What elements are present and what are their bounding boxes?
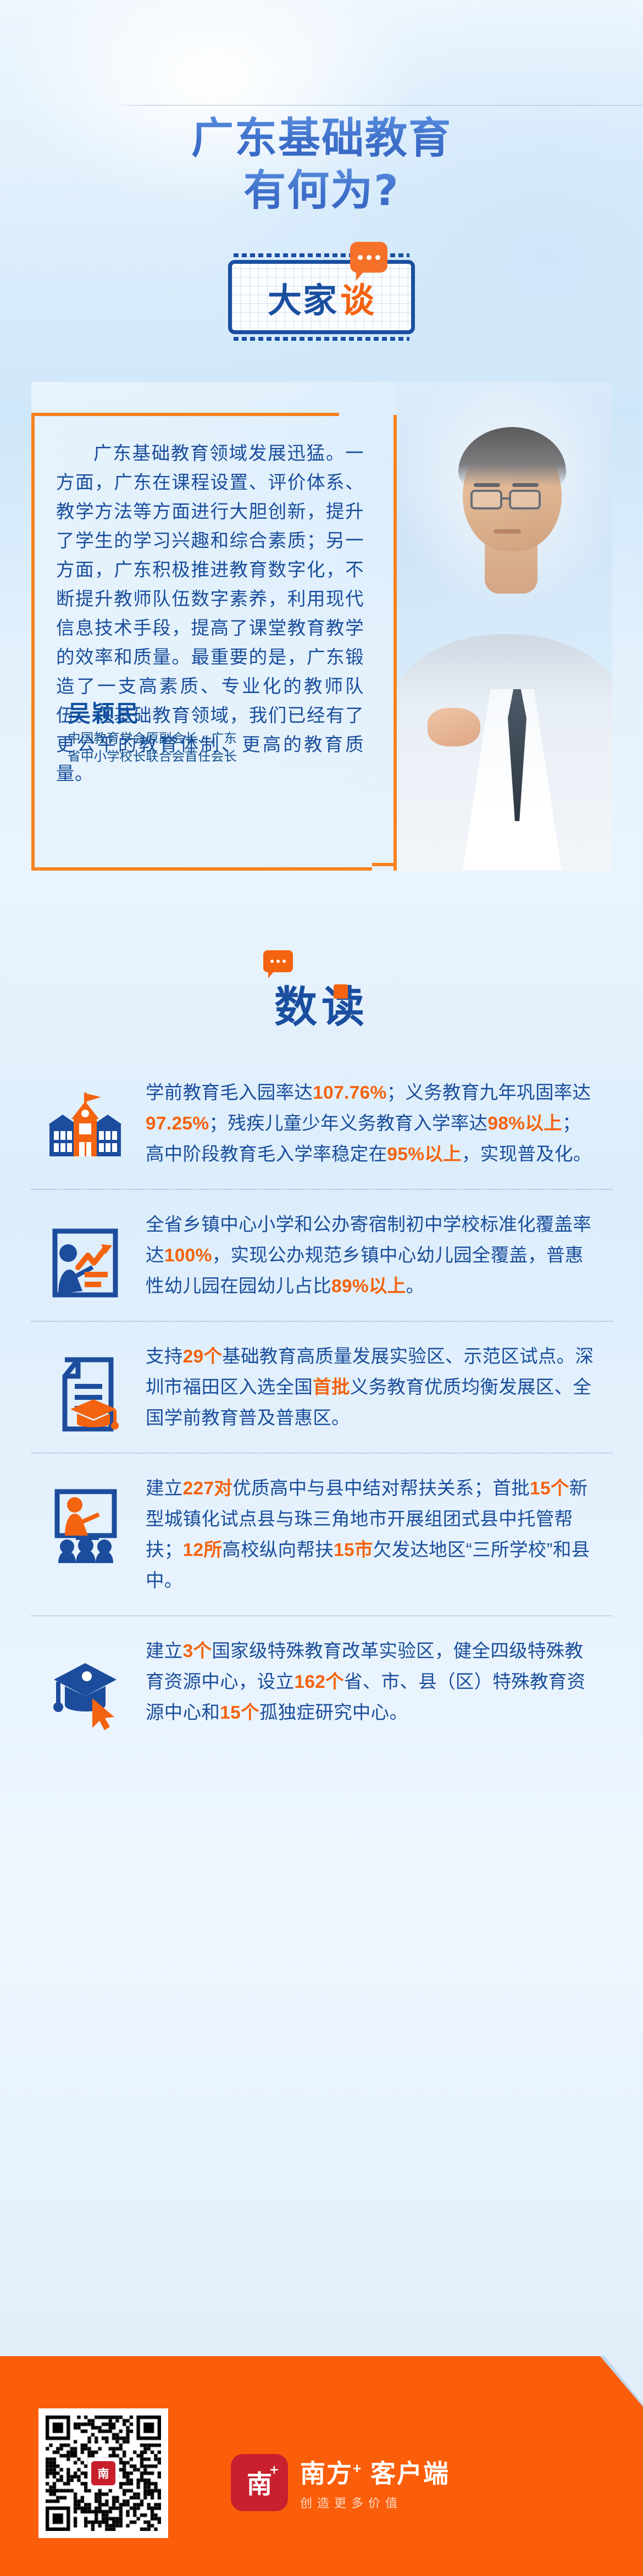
speaker-photo: [397, 382, 612, 871]
stat-text: 建立227对优质高中与县中结对帮扶关系；首批15个新型城镇化试点县与珠三角地市开…: [146, 1472, 598, 1597]
stat-text: 建立3个国家级特殊教育改革实验区，健全四级特殊教育资源中心，设立162个省、市、…: [146, 1635, 598, 1729]
stat-row: 建立3个国家级特殊教育改革实验区，健全四级特殊教育资源中心，设立162个省、市、…: [31, 1616, 612, 1747]
brand-lockup: 南 + 南方+ 客户端 创造更多价值: [231, 2454, 450, 2511]
eyebrow-right: [512, 483, 539, 487]
footer-bar: 南 南 + 南方+ 客户端 创造更多价值: [0, 2356, 643, 2576]
mouth-shape: [494, 529, 521, 534]
page-title: 广东基础教育 有何为?: [0, 113, 643, 217]
brand-suffix: 客户端: [370, 2459, 450, 2488]
badge-text: 大家 谈: [228, 260, 415, 334]
qr-code-pattern: 南: [46, 2416, 161, 2531]
hand-shape: [428, 708, 480, 746]
stat-highlight: 107.76%: [313, 1083, 386, 1103]
stat-highlight: 15市: [334, 1540, 373, 1560]
stat-plain: 学前教育毛入园率达: [146, 1083, 313, 1103]
stat-plain: ；义务教育九年巩固率达: [387, 1083, 591, 1103]
stat-highlight: 162个: [294, 1672, 344, 1692]
stats-list: 学前教育毛入园率达107.76%；义务教育九年巩固率达97.25%；残疾儿童少年…: [31, 1058, 612, 1747]
badge-dash-bottom: [234, 337, 409, 341]
graduation-cursor-icon: [41, 1635, 129, 1729]
stat-text: 学前教育毛入园率达107.76%；义务教育九年巩固率达97.25%；残疾儿童少年…: [146, 1077, 598, 1170]
stat-plain: 支持: [146, 1347, 183, 1367]
stat-plain: ，实现普及化。: [462, 1144, 592, 1165]
quote-card: 广东基础教育领域发展迅猛。一方面，广东在课程设置、评价体系、教学方法等方面进行大…: [31, 382, 612, 871]
shudu-title: 数读: [274, 973, 369, 1034]
stat-highlight: 227对: [183, 1478, 233, 1499]
stat-highlight: 15个: [530, 1478, 569, 1499]
document-graduation-icon: [41, 1340, 129, 1434]
brand-name-row: 南方+ 客户端: [300, 2454, 450, 2488]
presenter-chart-icon: [41, 1209, 129, 1302]
footer-corner-notch: [600, 2356, 643, 2407]
nanfang-logo-mark: 南 +: [231, 2454, 288, 2511]
stat-plain: 优质高中与县中结对帮扶关系；首批: [232, 1478, 530, 1499]
stat-highlight: 100%: [164, 1245, 212, 1266]
qr-center-logo: 南: [91, 2461, 115, 2485]
stat-highlight: 97.25%: [146, 1114, 209, 1134]
stat-plain: 孤独症研究中心。: [259, 1703, 408, 1723]
nanfang-logo-char: 南: [247, 2464, 272, 2501]
stat-highlight: 15个: [220, 1703, 259, 1723]
stat-plain: 高校纵向帮扶: [222, 1540, 334, 1560]
title-line-2: 有何为?: [0, 165, 643, 217]
badge-text-blue: 大家: [268, 273, 338, 322]
stat-plain: 。: [406, 1276, 425, 1297]
stat-row: 支持29个基础教育高质量发展实验区、示范区试点。深圳市福田区入选全国首批义务教育…: [31, 1322, 612, 1454]
glasses-bridge: [502, 497, 509, 500]
stat-text: 支持29个基础教育高质量发展实验区、示范区试点。深圳市福田区入选全国首批义务教育…: [146, 1340, 598, 1434]
glasses-lens-left: [470, 490, 502, 509]
brand-tagline: 创造更多价值: [300, 2494, 450, 2511]
stat-plain: 建立: [146, 1478, 183, 1499]
stat-row: 学前教育毛入园率达107.76%；义务教育九年巩固率达97.25%；残疾儿童少年…: [31, 1058, 612, 1190]
eyebrow-left: [474, 483, 500, 487]
speaker-role: 中国教育学会原副会长、广东省中小学校长联合会首任会长: [68, 729, 238, 766]
brand-name: 南方: [300, 2459, 353, 2488]
quote-border-left: [31, 415, 35, 871]
title-line-1: 广东基础教育: [0, 113, 643, 165]
nanfang-logo-plus: +: [269, 2463, 279, 2477]
dajiatan-badge: 大家 谈: [228, 260, 415, 334]
stat-highlight: 首批: [313, 1377, 350, 1398]
stat-highlight: 12所: [183, 1540, 223, 1560]
infographic-page: 广东基础教育 有何为? 大家 谈 广东基础教育领域发展迅猛。一方面，广东在课程设…: [0, 0, 643, 2576]
stat-highlight: 98%以上: [487, 1114, 562, 1134]
speaker-name: 吴颖民: [68, 695, 140, 729]
qr-code[interactable]: 南: [38, 2408, 168, 2538]
glasses-lens-right: [509, 490, 541, 509]
quote-border-top: [31, 413, 339, 416]
shudu-section-header: 数读: [0, 973, 643, 1034]
top-divider: [113, 105, 643, 106]
stat-plain: ；残疾儿童少年义务教育入学率达: [209, 1114, 487, 1134]
stat-row: 建立227对优质高中与县中结对帮扶关系；首批15个新型城镇化试点县与珠三角地市开…: [31, 1454, 612, 1616]
quote-border-bottom: [31, 867, 372, 871]
stat-highlight: 95%以上: [387, 1144, 462, 1165]
brand-plus: +: [353, 2460, 362, 2477]
school-building-icon: [41, 1077, 129, 1170]
stat-row: 全省乡镇中心小学和公办寄宿制初中学校标准化覆盖率达100%，实现公办规范乡镇中心…: [31, 1190, 612, 1322]
teacher-students-icon: [41, 1472, 129, 1566]
stat-highlight: 3个: [183, 1641, 212, 1661]
quote-border-bottom-step1: [372, 863, 394, 866]
stat-plain: 建立: [146, 1641, 183, 1661]
stat-highlight: 29个: [183, 1347, 223, 1367]
shudu-bubble-icon: [263, 950, 293, 972]
speech-bubble-icon: [350, 242, 387, 273]
stat-text: 全省乡镇中心小学和公办寄宿制初中学校标准化覆盖率达100%，实现公办规范乡镇中心…: [146, 1209, 598, 1302]
stat-highlight: 89%以上: [331, 1276, 406, 1297]
